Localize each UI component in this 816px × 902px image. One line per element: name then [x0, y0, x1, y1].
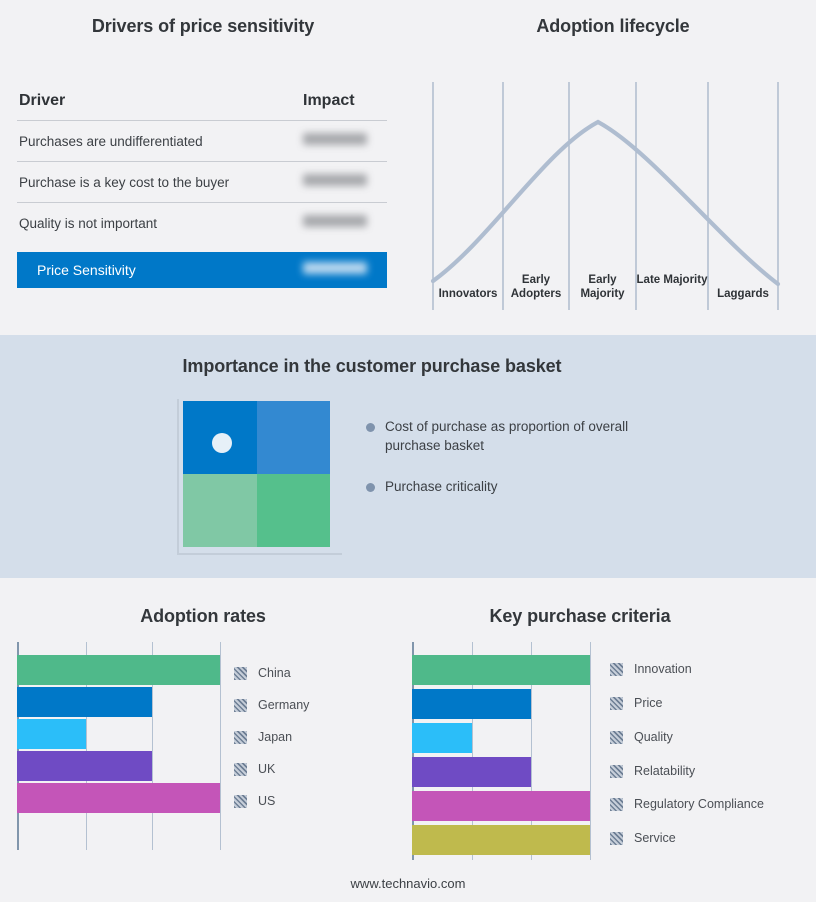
- matrix-quadrant-top-left: [183, 401, 257, 474]
- matrix-x-axis: [177, 553, 342, 555]
- adoption-lifecycle-chart: Innovators Early Adopters Early Majority…: [410, 0, 816, 335]
- redacted-text: [303, 174, 367, 186]
- matrix-y-axis: [177, 399, 179, 555]
- purchase-basket-matrix: [183, 401, 330, 547]
- driver-label: Purchase is a key cost to the buyer: [17, 175, 303, 190]
- hatched-swatch-icon: [234, 667, 247, 680]
- impact-value-redacted: [303, 132, 387, 150]
- legend-label: Japan: [258, 730, 292, 744]
- gridline: [590, 642, 591, 860]
- bar-us: [17, 783, 220, 813]
- adoption-rates-title: Adoption rates: [17, 606, 389, 627]
- footer-url: www.technavio.com: [0, 876, 816, 891]
- bar-relatability: [412, 757, 531, 787]
- legend-label: Purchase criticality: [385, 477, 498, 496]
- bar-service: [412, 825, 590, 855]
- bullet-icon: [366, 423, 375, 432]
- legend-label: Germany: [258, 698, 309, 712]
- bar-quality: [412, 723, 472, 753]
- legend-item: Cost of purchase as proportion of overal…: [366, 417, 656, 455]
- legend-item-regulatory-compliance: Regulatory Compliance: [610, 797, 764, 811]
- legend-label: US: [258, 794, 275, 808]
- legend-item-japan: Japan: [234, 730, 292, 744]
- price-sensitivity-summary-row: Price Sensitivity: [17, 252, 387, 288]
- driver-label: Quality is not important: [17, 216, 303, 231]
- drivers-table: Driver Impact Purchases are undifferenti…: [17, 92, 387, 288]
- legend-item-germany: Germany: [234, 698, 309, 712]
- column-header-driver: Driver: [19, 92, 303, 110]
- matrix-position-marker: [212, 433, 232, 453]
- adoption-rates-chart: China Germany Japan UK US: [0, 640, 410, 870]
- legend-item-quality: Quality: [610, 730, 673, 744]
- legend-label: Relatability: [634, 764, 695, 778]
- table-header-row: Driver Impact: [17, 92, 387, 120]
- impact-value-redacted: [303, 214, 387, 232]
- legend-label: UK: [258, 762, 275, 776]
- legend-label: Cost of purchase as proportion of overal…: [385, 417, 656, 455]
- table-row: Purchase is a key cost to the buyer: [17, 161, 387, 202]
- bar-china: [17, 655, 220, 685]
- hatched-swatch-icon: [610, 663, 623, 676]
- column-header-impact: Impact: [303, 92, 387, 110]
- redacted-text: [303, 133, 367, 145]
- legend-item-relatability: Relatability: [610, 764, 695, 778]
- bar-innovation: [412, 655, 590, 685]
- redacted-text: [303, 215, 367, 227]
- impact-value-redacted: [303, 173, 387, 191]
- legend-item-uk: UK: [234, 762, 275, 776]
- bullet-icon: [366, 483, 375, 492]
- basket-legend: Cost of purchase as proportion of overal…: [366, 417, 656, 518]
- legend-label: Innovation: [634, 662, 692, 676]
- hatched-swatch-icon: [234, 795, 247, 808]
- adoption-rates-legend: China Germany Japan UK US: [234, 640, 404, 848]
- key-purchase-criteria-legend: Innovation Price Quality Relatability Re…: [610, 640, 816, 858]
- gridline: [220, 642, 221, 850]
- matrix-quadrant-top-right: [257, 401, 331, 474]
- bar-germany: [17, 687, 152, 717]
- legend-item-china: China: [234, 666, 291, 680]
- table-row: Quality is not important: [17, 202, 387, 243]
- key-purchase-criteria-plot: [412, 642, 592, 860]
- hatched-swatch-icon: [610, 798, 623, 811]
- lifecycle-segment-early-adopters: Early Adopters: [503, 274, 569, 301]
- adoption-rates-plot: [17, 642, 222, 850]
- legend-item-innovation: Innovation: [610, 662, 692, 676]
- legend-label: Service: [634, 831, 676, 845]
- hatched-swatch-icon: [610, 765, 623, 778]
- basket-panel-title: Importance in the customer purchase bask…: [60, 356, 684, 377]
- legend-label: Price: [634, 696, 662, 710]
- adoption-bell-curve: [433, 122, 778, 284]
- redacted-text: [303, 262, 367, 274]
- bar-uk: [17, 751, 152, 781]
- drivers-panel-title: Drivers of price sensitivity: [17, 16, 389, 37]
- lifecycle-segment-innovators: Innovators: [433, 288, 503, 302]
- legend-item-service: Service: [610, 831, 676, 845]
- legend-item: Purchase criticality: [366, 477, 656, 496]
- table-row: Purchases are undifferentiated: [17, 120, 387, 161]
- lifecycle-segment-laggards: Laggards: [708, 288, 778, 302]
- driver-label: Purchases are undifferentiated: [17, 134, 303, 149]
- legend-label: Quality: [634, 730, 673, 744]
- bar-price: [412, 689, 531, 719]
- legend-label: China: [258, 666, 291, 680]
- lifecycle-segment-early-majority: Early Majority: [569, 274, 636, 301]
- lifecycle-segment-late-majority: Late Majority: [636, 274, 708, 288]
- key-purchase-criteria-title: Key purchase criteria: [410, 606, 750, 627]
- key-purchase-criteria-chart: Innovation Price Quality Relatability Re…: [410, 640, 816, 880]
- summary-label: Price Sensitivity: [37, 262, 303, 278]
- hatched-swatch-icon: [610, 832, 623, 845]
- infographic-page: Drivers of price sensitivity Driver Impa…: [0, 0, 816, 902]
- legend-item-price: Price: [610, 696, 662, 710]
- matrix-quadrant-bottom-left: [183, 474, 257, 547]
- hatched-swatch-icon: [610, 731, 623, 744]
- legend-item-us: US: [234, 794, 275, 808]
- legend-label: Regulatory Compliance: [634, 797, 764, 811]
- summary-impact-redacted: [303, 261, 387, 279]
- matrix-quadrant-bottom-right: [257, 474, 331, 547]
- bar-japan: [17, 719, 86, 749]
- hatched-swatch-icon: [234, 699, 247, 712]
- hatched-swatch-icon: [610, 697, 623, 710]
- bar-regulatory-compliance: [412, 791, 590, 821]
- hatched-swatch-icon: [234, 763, 247, 776]
- hatched-swatch-icon: [234, 731, 247, 744]
